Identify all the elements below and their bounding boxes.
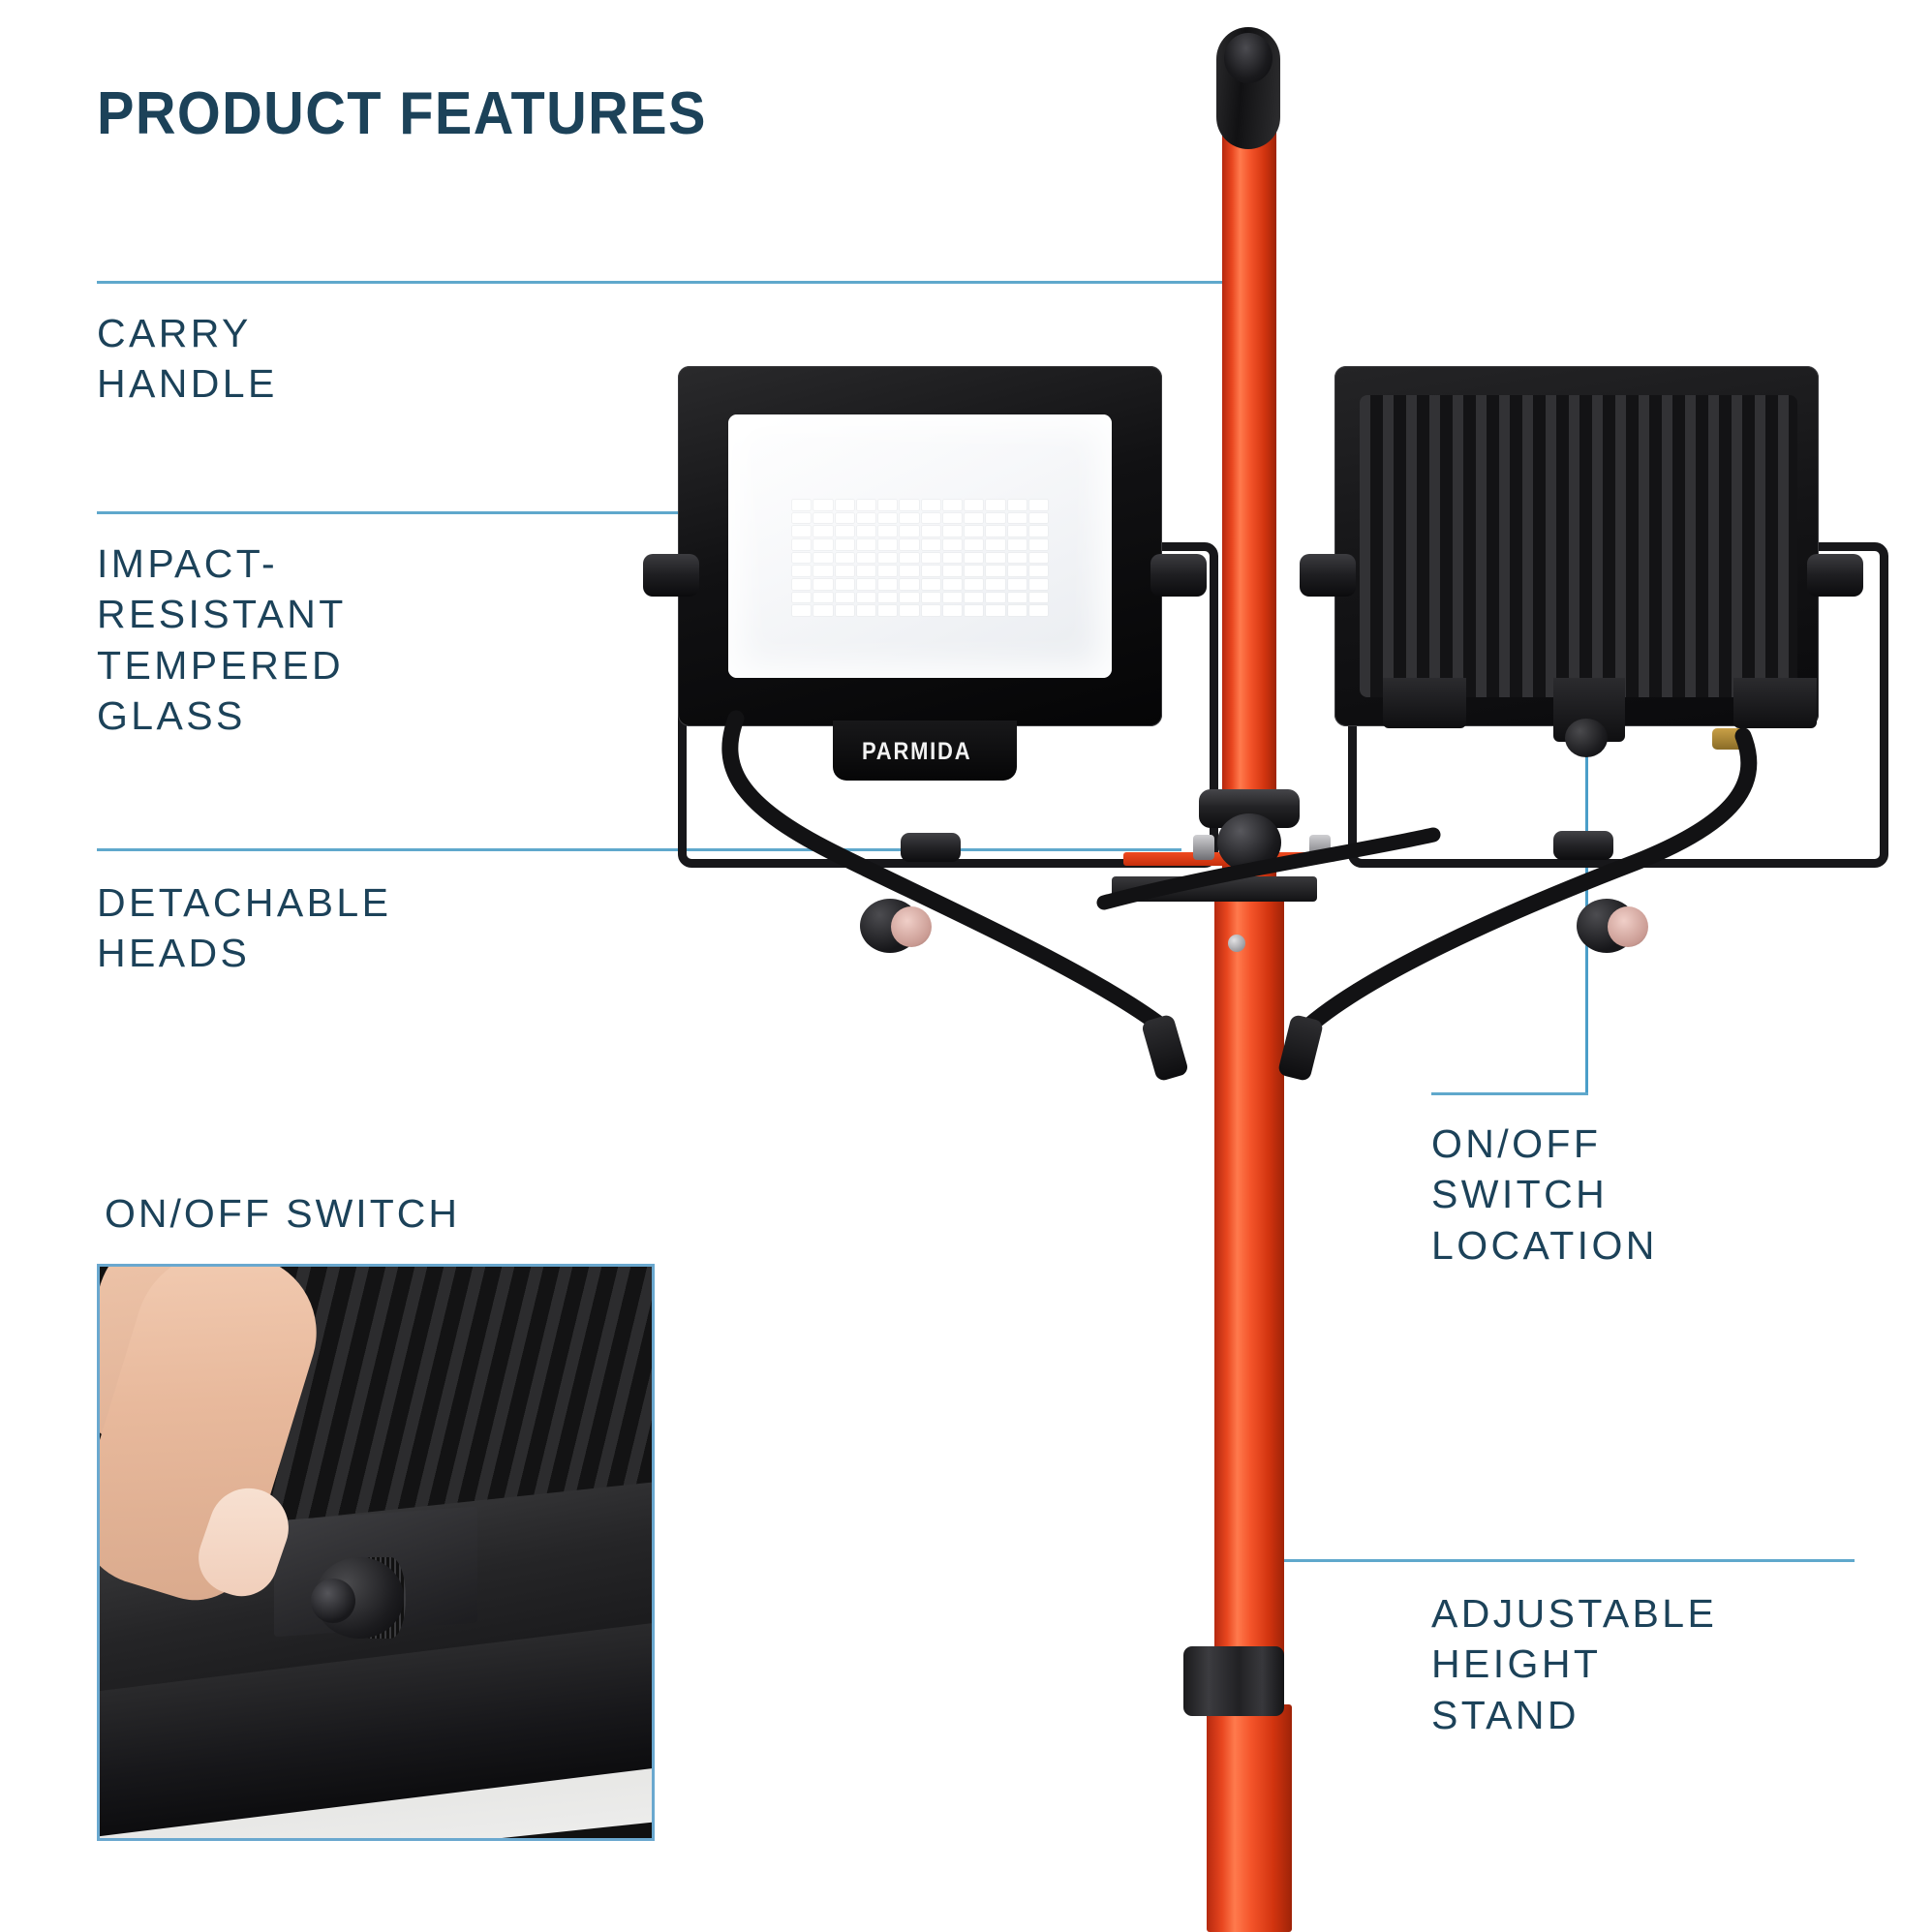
feature-line: STAND	[1431, 1690, 1717, 1740]
led	[1029, 513, 1048, 524]
led	[836, 513, 854, 524]
led	[792, 500, 811, 510]
telescoping-pole-lower	[1214, 876, 1284, 1671]
led	[986, 513, 1004, 524]
led	[813, 566, 832, 576]
led	[965, 539, 983, 550]
inset-caption: ON/OFF SWITCH	[105, 1191, 460, 1237]
led	[792, 579, 811, 590]
feature-line: DETACHABLE	[97, 877, 391, 928]
leader-line-switch-location-horizontal	[1431, 1092, 1588, 1095]
led	[792, 553, 811, 564]
right-head-mount-block-right	[1733, 678, 1817, 728]
led	[1008, 513, 1027, 524]
led	[792, 593, 811, 603]
led	[1029, 539, 1048, 550]
led	[878, 513, 897, 524]
led	[792, 605, 811, 616]
led	[813, 579, 832, 590]
led	[878, 526, 897, 537]
led	[1029, 605, 1048, 616]
led	[813, 513, 832, 524]
feature-line: IMPACT-	[97, 538, 347, 589]
feature-line: ON/OFF	[1431, 1119, 1658, 1169]
led	[836, 579, 854, 590]
led	[943, 500, 962, 510]
led	[986, 539, 1004, 550]
led	[986, 579, 1004, 590]
led	[900, 526, 918, 537]
led	[1008, 593, 1027, 603]
led	[943, 605, 962, 616]
led	[857, 539, 875, 550]
led	[943, 513, 962, 524]
led	[943, 593, 962, 603]
head-angle-knob-left	[901, 833, 961, 862]
left-head-led-array	[792, 500, 1048, 616]
led	[900, 500, 918, 510]
feature-label-carry-handle: CARRY HANDLE	[97, 308, 278, 410]
led	[857, 579, 875, 590]
led	[836, 526, 854, 537]
feature-line: HEIGHT	[1431, 1639, 1717, 1689]
led	[836, 566, 854, 576]
cable-plug-left	[1141, 1014, 1189, 1083]
onoff-switch-photo	[97, 1264, 655, 1841]
right-head-trunnion-right	[1807, 554, 1863, 597]
led	[857, 513, 875, 524]
leader-line-carry-handle	[97, 281, 1240, 284]
right-head-heat-sink-fins	[1360, 395, 1797, 697]
feature-line: GLASS	[97, 690, 347, 741]
photo-content	[100, 1267, 652, 1838]
led	[813, 593, 832, 603]
led	[1029, 553, 1048, 564]
feature-label-detachable-heads: DETACHABLE HEADS	[97, 877, 391, 979]
led	[1008, 579, 1027, 590]
feature-label-tempered-glass: IMPACT- RESISTANT TEMPERED GLASS	[97, 538, 347, 742]
switch-button	[311, 1579, 355, 1623]
led	[878, 566, 897, 576]
led	[878, 593, 897, 603]
led	[857, 500, 875, 510]
ball-pivot-joint	[1217, 813, 1281, 872]
led	[1008, 553, 1027, 564]
led	[857, 605, 875, 616]
carry-handle-top-cap	[1224, 33, 1273, 83]
right-head-trunnion-left	[1300, 554, 1356, 597]
led	[878, 579, 897, 590]
feature-label-adjustable-stand: ADJUSTABLE HEIGHT STAND	[1431, 1588, 1717, 1740]
led	[1029, 526, 1048, 537]
feature-line: RESISTANT	[97, 589, 347, 639]
feature-line: HEADS	[97, 928, 391, 978]
led	[1008, 526, 1027, 537]
led	[900, 593, 918, 603]
crossbar-bolt-left	[1193, 835, 1214, 860]
led	[965, 579, 983, 590]
led	[986, 593, 1004, 603]
led	[813, 605, 832, 616]
led	[792, 513, 811, 524]
led	[900, 539, 918, 550]
led	[900, 513, 918, 524]
led	[986, 605, 1004, 616]
telescoping-pole-bottom	[1207, 1704, 1292, 1932]
head-angle-knob-right	[1553, 831, 1613, 860]
leader-line-adjustable-stand	[1254, 1559, 1855, 1562]
cable-plug-right	[1277, 1014, 1324, 1082]
led	[1029, 579, 1048, 590]
led	[922, 593, 940, 603]
crossbar-black-clamp	[1112, 876, 1317, 902]
led	[986, 553, 1004, 564]
led	[878, 553, 897, 564]
led	[965, 605, 983, 616]
led	[813, 526, 832, 537]
crossbar-end-knob-left	[860, 899, 920, 953]
led	[922, 500, 940, 510]
led	[922, 526, 940, 537]
page-title: PRODUCT FEATURES	[97, 79, 707, 148]
onoff-switch-on-product	[1565, 719, 1608, 757]
led	[965, 500, 983, 510]
led	[813, 553, 832, 564]
feature-line: HANDLE	[97, 358, 278, 409]
led	[922, 605, 940, 616]
feature-line: CARRY	[97, 308, 278, 358]
led	[1029, 593, 1048, 603]
feature-line: TEMPERED	[97, 640, 347, 690]
led	[836, 593, 854, 603]
led	[900, 605, 918, 616]
feature-label-switch-location: ON/OFF SWITCH LOCATION	[1431, 1119, 1658, 1271]
feature-line: SWITCH	[1431, 1169, 1658, 1219]
telescoping-pole-upper	[1222, 116, 1276, 881]
led	[792, 526, 811, 537]
led	[943, 539, 962, 550]
crossbar-end-knob-right	[1577, 899, 1637, 953]
led	[857, 593, 875, 603]
led	[1008, 566, 1027, 576]
brand-logo: PARMIDA	[862, 738, 971, 766]
led	[922, 513, 940, 524]
led	[943, 579, 962, 590]
left-head-trunnion-left	[643, 554, 699, 597]
led	[878, 500, 897, 510]
led	[857, 526, 875, 537]
led	[922, 539, 940, 550]
led	[965, 513, 983, 524]
right-head-mount-block-left	[1383, 678, 1466, 728]
led	[1008, 539, 1027, 550]
led	[878, 605, 897, 616]
led	[878, 539, 897, 550]
led	[857, 566, 875, 576]
led	[900, 566, 918, 576]
led	[813, 539, 832, 550]
feature-line: LOCATION	[1431, 1220, 1658, 1271]
led	[986, 566, 1004, 576]
led	[943, 526, 962, 537]
led	[965, 593, 983, 603]
right-head-brass-connector	[1712, 728, 1749, 750]
led	[900, 579, 918, 590]
crossbar-bolt-right	[1309, 835, 1331, 860]
led	[986, 500, 1004, 510]
crossbar-mount-plate	[1123, 852, 1307, 866]
pole-screw	[1228, 935, 1245, 952]
led	[922, 566, 940, 576]
left-head-trunnion-right	[1150, 554, 1207, 597]
led	[922, 579, 940, 590]
led	[986, 526, 1004, 537]
led	[792, 566, 811, 576]
led	[836, 500, 854, 510]
led	[922, 553, 940, 564]
led	[965, 526, 983, 537]
feature-line: ADJUSTABLE	[1431, 1588, 1717, 1639]
led	[813, 500, 832, 510]
led	[836, 605, 854, 616]
led	[1008, 605, 1027, 616]
led	[1029, 500, 1048, 510]
led	[1029, 566, 1048, 576]
led	[965, 566, 983, 576]
led	[1008, 500, 1027, 510]
led	[836, 553, 854, 564]
led	[900, 553, 918, 564]
led	[857, 553, 875, 564]
led	[792, 539, 811, 550]
led	[943, 566, 962, 576]
height-adjust-collar	[1183, 1646, 1284, 1716]
led	[965, 553, 983, 564]
led	[836, 539, 854, 550]
led	[943, 553, 962, 564]
